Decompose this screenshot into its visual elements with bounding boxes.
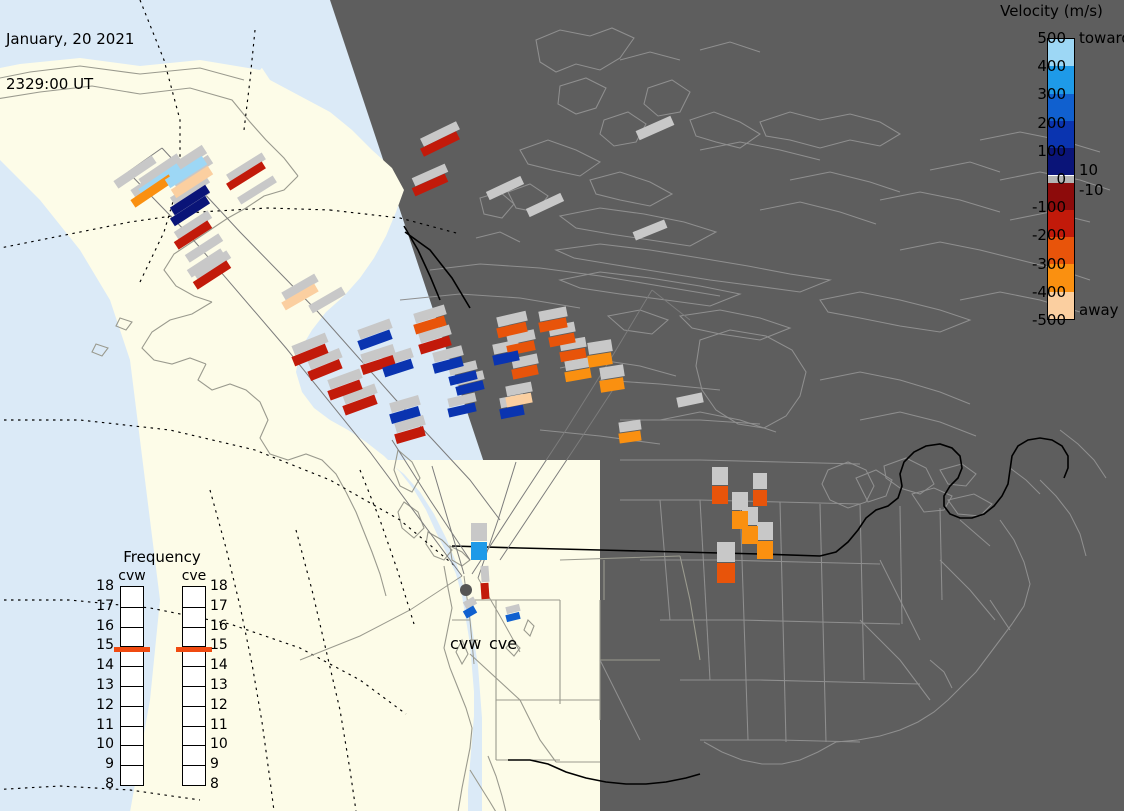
date-label: January, 20 2021 xyxy=(6,32,134,47)
frequency-gridline xyxy=(183,726,205,727)
ground-scatter-cell xyxy=(753,473,767,489)
cell-rect xyxy=(480,566,489,583)
cell-rect xyxy=(753,490,767,506)
frequency-tick-left-18: 18 xyxy=(92,579,114,593)
ground-scatter-cell xyxy=(712,467,728,485)
frequency-gridline xyxy=(183,706,205,707)
frequency-gridline xyxy=(121,686,143,687)
frequency-tick-right-8: 8 xyxy=(210,777,232,791)
frequency-bar-cve xyxy=(182,586,206,786)
colorbar-tick-300: 300 xyxy=(1000,87,1066,102)
colorbar-tick--400: -400 xyxy=(1000,285,1066,300)
frequency-tick-left-15: 15 xyxy=(92,638,114,652)
time-label: 2329:00 UT xyxy=(6,77,134,92)
frequency-gridline xyxy=(183,627,205,628)
frequency-tick-left-10: 10 xyxy=(92,737,114,751)
cell-rect xyxy=(742,526,758,544)
frequency-gridline xyxy=(183,765,205,766)
ground-scatter-cell xyxy=(480,566,489,583)
frequency-tick-right-13: 13 xyxy=(210,678,232,692)
frequency-gridline xyxy=(121,726,143,727)
radar-site-marker xyxy=(460,584,472,596)
frequency-tick-left-13: 13 xyxy=(92,678,114,692)
velocity-cell xyxy=(471,542,487,560)
colorbar-lower-threshold-label: -10 xyxy=(1079,183,1104,198)
colorbar-toward-label: toward xyxy=(1079,31,1124,46)
frequency-gridline xyxy=(183,686,205,687)
cell-rect xyxy=(471,523,487,541)
colorbar-tick-400: 400 xyxy=(1000,59,1066,74)
ground-scatter-cell xyxy=(717,542,735,562)
frequency-tick-right-16: 16 xyxy=(210,619,232,633)
ground-scatter-cell xyxy=(757,522,773,540)
velocity-cell xyxy=(480,583,489,600)
frequency-gridline xyxy=(121,765,143,766)
frequency-column-label-cvw: cvw xyxy=(110,568,154,584)
colorbar-upper-threshold-label: 10 xyxy=(1079,163,1098,178)
frequency-tick-left-16: 16 xyxy=(92,619,114,633)
cell-rect xyxy=(717,542,735,562)
colorbar-tick--100: -100 xyxy=(1000,200,1066,215)
velocity-cell xyxy=(753,490,767,506)
colorbar-tick-500: 500 xyxy=(1000,31,1066,46)
colorbar-tick--500: -500 xyxy=(1000,313,1066,328)
frequency-bar-cvw xyxy=(120,586,144,786)
velocity-colorbar: Velocity (m/s) 5004003002001000-100-200-… xyxy=(975,0,1124,340)
frequency-tick-right-9: 9 xyxy=(210,757,232,771)
frequency-tick-left-17: 17 xyxy=(92,599,114,613)
timestamp-block: January, 20 2021 2329:00 UT xyxy=(6,2,134,122)
cell-rect xyxy=(480,583,489,600)
frequency-tick-left-8: 8 xyxy=(92,777,114,791)
colorbar-tick--200: -200 xyxy=(1000,228,1066,243)
cell-rect xyxy=(712,486,728,504)
colorbar-tick-0: 0 xyxy=(1000,172,1066,187)
colorbar-away-label: away xyxy=(1079,303,1119,318)
frequency-gridline xyxy=(121,607,143,608)
colorbar-tick-200: 200 xyxy=(1000,116,1066,131)
frequency-tick-right-10: 10 xyxy=(210,737,232,751)
frequency-tick-right-17: 17 xyxy=(210,599,232,613)
frequency-tick-left-12: 12 xyxy=(92,698,114,712)
frequency-gridline xyxy=(183,607,205,608)
frequency-tick-right-18: 18 xyxy=(210,579,232,593)
velocity-cell xyxy=(717,563,735,583)
frequency-tick-right-12: 12 xyxy=(210,698,232,712)
frequency-title: Frequency xyxy=(86,548,238,566)
frequency-tick-right-11: 11 xyxy=(210,718,232,732)
frequency-legend: Frequency cvw cve 1818171716161515141413… xyxy=(86,548,238,788)
frequency-marker-cve xyxy=(176,647,212,652)
site-label-cvw: cvw xyxy=(450,636,481,652)
frequency-tick-left-9: 9 xyxy=(92,757,114,771)
cell-rect xyxy=(712,467,728,485)
frequency-tick-left-11: 11 xyxy=(92,718,114,732)
frequency-marker-cvw xyxy=(114,647,150,652)
frequency-tick-right-15: 15 xyxy=(210,638,232,652)
cell-rect xyxy=(757,541,773,559)
colorbar-tick--300: -300 xyxy=(1000,257,1066,272)
frequency-gridline xyxy=(121,745,143,746)
colorbar-title: Velocity (m/s) xyxy=(979,2,1124,20)
cell-rect xyxy=(732,492,748,510)
site-label-cve: cve xyxy=(489,636,517,652)
ground-scatter-cell xyxy=(732,492,748,510)
frequency-gridline xyxy=(121,627,143,628)
cell-rect xyxy=(717,563,735,583)
frequency-gridline xyxy=(121,706,143,707)
velocity-cell xyxy=(712,486,728,504)
cell-rect xyxy=(471,542,487,560)
ground-scatter-cell xyxy=(471,523,487,541)
frequency-tick-right-14: 14 xyxy=(210,658,232,672)
colorbar-tick-100: 100 xyxy=(1000,144,1066,159)
cell-rect xyxy=(753,473,767,489)
frequency-tick-left-14: 14 xyxy=(92,658,114,672)
cell-rect xyxy=(757,522,773,540)
velocity-cell xyxy=(742,526,758,544)
frequency-gridline xyxy=(183,745,205,746)
frequency-gridline xyxy=(121,666,143,667)
frequency-gridline xyxy=(183,666,205,667)
superdarn-map-view: January, 20 2021 2329:00 UT Velocity (m/… xyxy=(0,0,1124,811)
velocity-cell xyxy=(757,541,773,559)
